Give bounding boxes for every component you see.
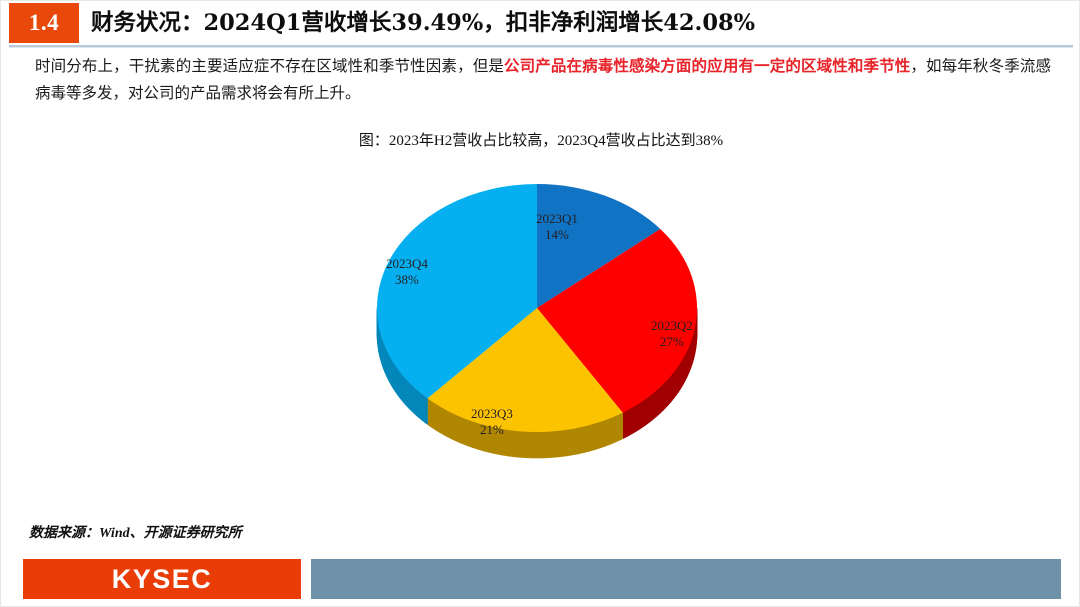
source-note: 数据来源：Wind、开源证券研究所 — [29, 522, 242, 542]
pie-label-name: 2023Q2 — [651, 318, 693, 333]
page-title: 财务状况：2024Q1营收增长39.49%，扣非净利润增长42.08% — [91, 5, 755, 37]
pie-label-value: 21% — [471, 422, 513, 438]
chart-title: 图：2023年H2营收占比较高，2023Q4营收占比达到38% — [1, 129, 1080, 150]
pie-label-name: 2023Q3 — [471, 406, 513, 421]
slide-header: 1.4 财务状况：2024Q1营收增长39.49%，扣非净利润增长42.08% — [1, 1, 1080, 45]
pie-label-value: 27% — [651, 334, 693, 350]
pie-label-2023q4: 2023Q438% — [386, 256, 428, 288]
pie-label-value: 38% — [386, 272, 428, 288]
section-number-badge: 1.4 — [9, 3, 79, 43]
pie-label-2023q1: 2023Q114% — [536, 211, 578, 243]
kysec-logo-text: KYSEC — [112, 564, 213, 595]
pie-label-2023q2: 2023Q227% — [651, 318, 693, 350]
body-text-lead: 时间分布上，干扰素的主要适应症不存在区域性和季节性因素，但是 — [35, 58, 504, 75]
footer-accent-bar — [311, 559, 1061, 599]
slide-canvas: 1.4 财务状况：2024Q1营收增长39.49%，扣非净利润增长42.08% … — [0, 0, 1080, 607]
pie-label-name: 2023Q1 — [536, 211, 578, 226]
pie-label-2023q3: 2023Q321% — [471, 406, 513, 438]
body-text-highlight: 公司产品在病毒性感染方面的应用有一定的区域性和季节性 — [504, 58, 910, 75]
pie-chart: 2023Q114%2023Q227%2023Q321%2023Q438% — [281, 161, 801, 491]
kysec-logo: KYSEC — [23, 559, 301, 599]
pie-label-value: 14% — [536, 227, 578, 243]
header-divider-secondary — [9, 47, 1073, 48]
pie-label-name: 2023Q4 — [386, 256, 428, 271]
body-paragraph: 时间分布上，干扰素的主要适应症不存在区域性和季节性因素，但是公司产品在病毒性感染… — [35, 53, 1051, 107]
